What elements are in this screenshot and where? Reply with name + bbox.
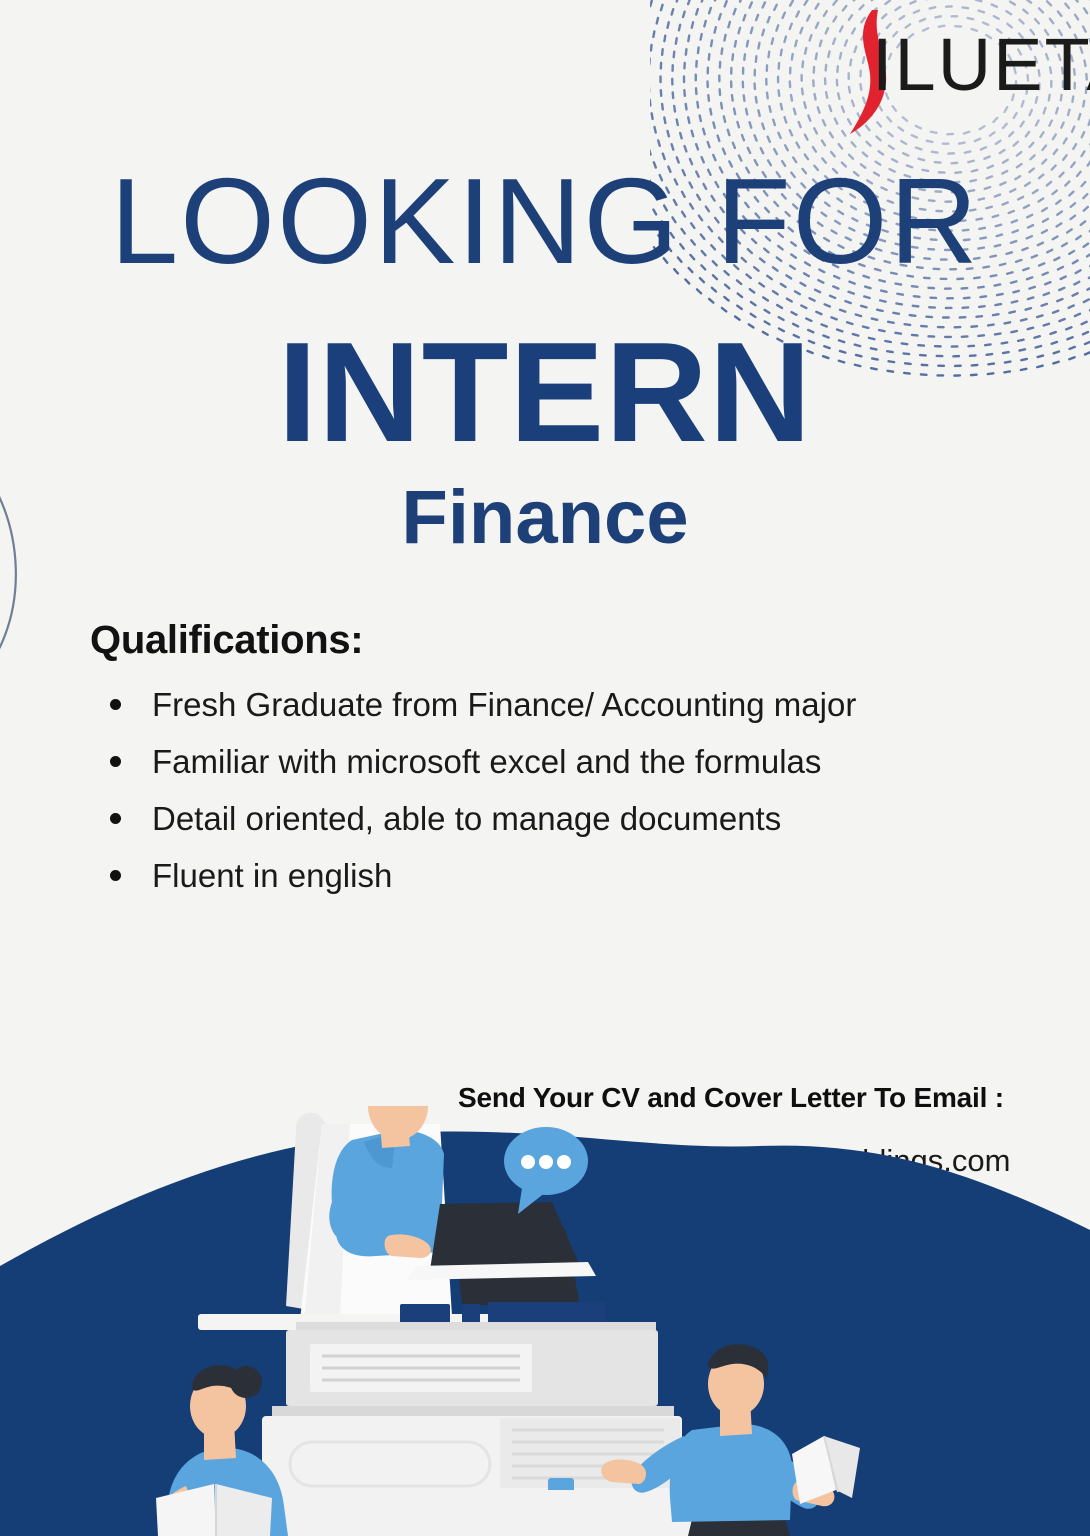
- bullet-icon: [110, 813, 121, 824]
- concentric-arcs-decoration: [0, 430, 120, 710]
- illustration-people-reading: [0, 1106, 1090, 1536]
- list-item: Detail oriented, able to manage document…: [96, 802, 976, 835]
- headline-looking-for: LOOKING FOR: [0, 160, 1090, 282]
- book-stack: [240, 1302, 700, 1536]
- brand-logo: ILUETA: [830, 8, 1090, 138]
- bullet-icon: [110, 870, 121, 881]
- list-item-label: Fresh Graduate from Finance/ Accounting …: [152, 686, 856, 723]
- qualifications-title: Qualifications:: [90, 618, 363, 663]
- list-item: Fresh Graduate from Finance/ Accounting …: [96, 688, 976, 721]
- list-item-label: Detail oriented, able to manage document…: [152, 800, 781, 837]
- list-item: Familiar with microsoft excel and the fo…: [96, 745, 976, 778]
- logo-wordmark: ILUETA: [872, 28, 1090, 102]
- qualifications-list: Fresh Graduate from Finance/ Accounting …: [96, 688, 976, 916]
- bullet-icon: [110, 699, 121, 710]
- bullet-icon: [110, 756, 121, 767]
- poster-canvas: ILUETA LOOKING FOR INTERN Finance Qualif…: [0, 0, 1090, 1536]
- list-item-label: Familiar with microsoft excel and the fo…: [152, 743, 821, 780]
- headline-intern: INTERN: [0, 322, 1090, 464]
- list-item-label: Fluent in english: [152, 857, 392, 894]
- list-item: Fluent in english: [96, 859, 976, 892]
- headline-finance: Finance: [0, 480, 1090, 556]
